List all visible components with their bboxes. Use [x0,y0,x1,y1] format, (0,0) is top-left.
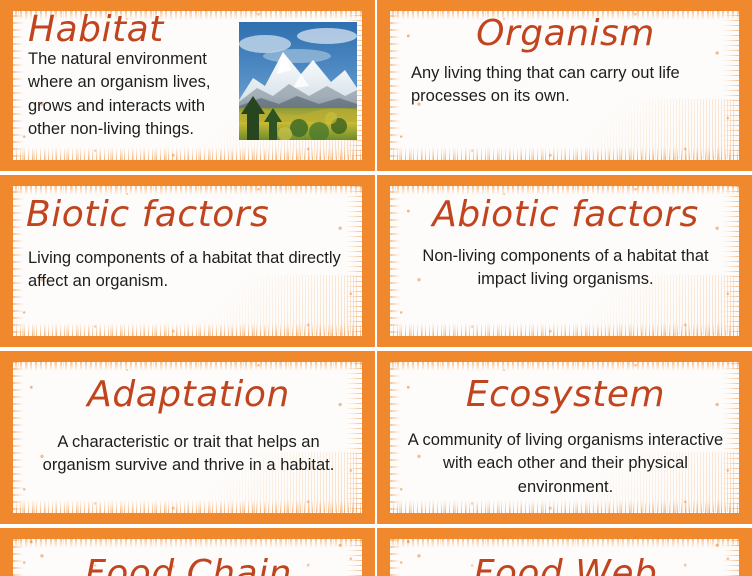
card-definition-text: The natural environment where an organis… [28,48,243,142]
card-content: Food Web [399,538,732,560]
card-definition-text: A community of living organisms interact… [405,429,726,499]
card-title: Biotic factors [26,197,355,233]
vocabulary-card-abiotic-factors[interactable]: Abiotic factors Non-living components of… [377,175,752,347]
card-title: Abiotic factors [399,197,732,233]
card-content: Biotic factors Living components of a ha… [22,185,355,331]
card-title: Food Web [399,556,732,576]
vocabulary-card-habitat[interactable]: Habitat The natural environment where an… [0,0,375,171]
vocabulary-card-ecosystem[interactable]: Ecosystem A community of living organism… [377,351,752,524]
card-title: Adaptation [22,377,355,413]
card-content: Abiotic factors Non-living components of… [399,185,732,331]
mountain-landscape-photo [239,22,357,140]
card-title: Organism [399,16,732,52]
card-title: Ecosystem [399,377,732,413]
card-content: Ecosystem A community of living organism… [399,361,732,508]
vocabulary-card-food-chain[interactable]: Food Chain [0,528,375,576]
card-definition-text: Non-living components of a habitat that … [405,245,726,292]
card-definition-text: Living components of a habitat that dire… [28,247,347,294]
card-content: Adaptation A characteristic or trait tha… [22,361,355,508]
card-content: Food Chain [22,538,355,560]
vocabulary-card-food-web[interactable]: Food Web [377,528,752,576]
card-definition-text: A characteristic or trait that helps an … [32,431,345,478]
card-content: Organism Any living thing that can carry… [399,10,732,155]
card-title: Food Chain [22,556,355,576]
vocabulary-card-organism[interactable]: Organism Any living thing that can carry… [377,0,752,171]
card-definition-text: Any living thing that can carry out life… [411,62,724,109]
vocabulary-card-grid: Habitat The natural environment where an… [0,0,752,564]
vocabulary-card-biotic-factors[interactable]: Biotic factors Living components of a ha… [0,175,375,347]
vocabulary-card-adaptation[interactable]: Adaptation A characteristic or trait tha… [0,351,375,524]
